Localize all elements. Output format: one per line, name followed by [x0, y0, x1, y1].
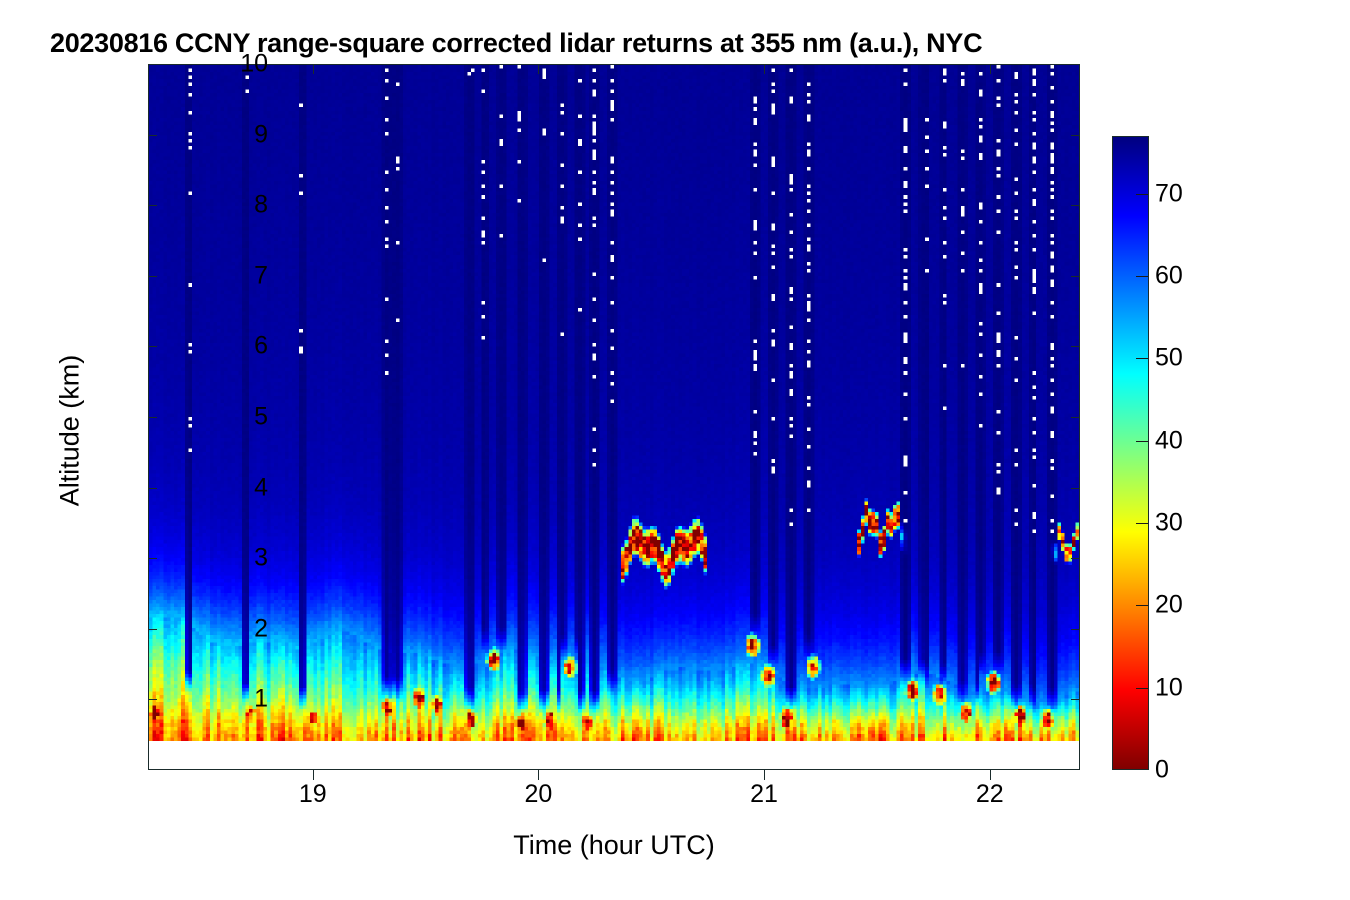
- colorbar-tick-label-10: 10: [1155, 675, 1183, 700]
- colorbar-tick-label-20: 20: [1155, 593, 1183, 618]
- lidar-figure: 20230816 CCNY range-square corrected lid…: [0, 0, 1350, 900]
- y-tick-label-5: 5: [208, 405, 268, 430]
- y-tick-mark-6: [148, 346, 157, 347]
- x-axis-label: Time (hour UTC): [148, 830, 1080, 861]
- y-tick-label-1: 1: [208, 687, 268, 712]
- y-tick-mark-3: [1071, 558, 1080, 559]
- colorbar-tick-mark-50: [1136, 358, 1148, 359]
- y-axis-label: Altitude (km): [55, 301, 86, 561]
- x-tick-label-21: 21: [750, 782, 778, 807]
- y-tick-label-2: 2: [208, 616, 268, 641]
- colorbar-tick-mark-40: [1136, 441, 1148, 442]
- y-tick-label-9: 9: [208, 122, 268, 147]
- y-tick-mark-5: [1071, 417, 1080, 418]
- y-tick-mark-4: [148, 488, 157, 489]
- colorbar-tick-label-30: 30: [1155, 510, 1183, 535]
- y-tick-mark-10: [1071, 64, 1080, 65]
- y-tick-label-3: 3: [208, 546, 268, 571]
- y-tick-mark-2: [148, 629, 157, 630]
- y-tick-mark-1: [1071, 699, 1080, 700]
- colorbar-tick-label-40: 40: [1155, 428, 1183, 453]
- y-tick-mark-9: [148, 135, 157, 136]
- y-tick-mark-7: [1071, 276, 1080, 277]
- x-tick-mark-20: [538, 64, 539, 74]
- y-tick-mark-8: [1071, 205, 1080, 206]
- heatmap-plot-area: [148, 64, 1080, 770]
- x-tick-label-20: 20: [524, 782, 552, 807]
- x-tick-mark-21: [764, 770, 765, 780]
- y-tick-mark-6: [1071, 346, 1080, 347]
- y-tick-mark-4: [1071, 488, 1080, 489]
- y-tick-mark-10: [148, 64, 157, 65]
- y-tick-mark-2: [1071, 629, 1080, 630]
- colorbar-tick-label-0: 0: [1155, 758, 1169, 783]
- colorbar-tick-mark-20: [1136, 605, 1148, 606]
- colorbar-tick-label-50: 50: [1155, 346, 1183, 371]
- colorbar-tick-label-60: 60: [1155, 263, 1183, 288]
- y-tick-label-8: 8: [208, 193, 268, 218]
- y-tick-mark-8: [148, 205, 157, 206]
- y-tick-label-4: 4: [208, 475, 268, 500]
- y-tick-mark-7: [148, 276, 157, 277]
- y-tick-mark-3: [148, 558, 157, 559]
- y-tick-mark-1: [148, 699, 157, 700]
- colorbar: [1112, 136, 1149, 770]
- colorbar-tick-mark-70: [1136, 194, 1148, 195]
- y-tick-mark-5: [148, 417, 157, 418]
- colorbar-tick-label-70: 70: [1155, 181, 1183, 206]
- x-tick-mark-19: [313, 64, 314, 74]
- y-tick-label-6: 6: [208, 334, 268, 359]
- x-tick-label-19: 19: [299, 782, 327, 807]
- x-tick-mark-20: [538, 770, 539, 780]
- x-tick-mark-19: [313, 770, 314, 780]
- y-tick-label-7: 7: [208, 263, 268, 288]
- x-tick-label-22: 22: [976, 782, 1004, 807]
- colorbar-tick-mark-10: [1136, 688, 1148, 689]
- x-tick-mark-21: [764, 64, 765, 74]
- x-tick-mark-22: [990, 770, 991, 780]
- x-tick-mark-22: [990, 64, 991, 74]
- colorbar-gradient: [1113, 137, 1148, 769]
- colorbar-tick-mark-30: [1136, 523, 1148, 524]
- colorbar-tick-mark-60: [1136, 276, 1148, 277]
- y-tick-label-10: 10: [208, 52, 268, 77]
- heatmap-canvas: [149, 65, 1079, 769]
- y-tick-mark-9: [1071, 135, 1080, 136]
